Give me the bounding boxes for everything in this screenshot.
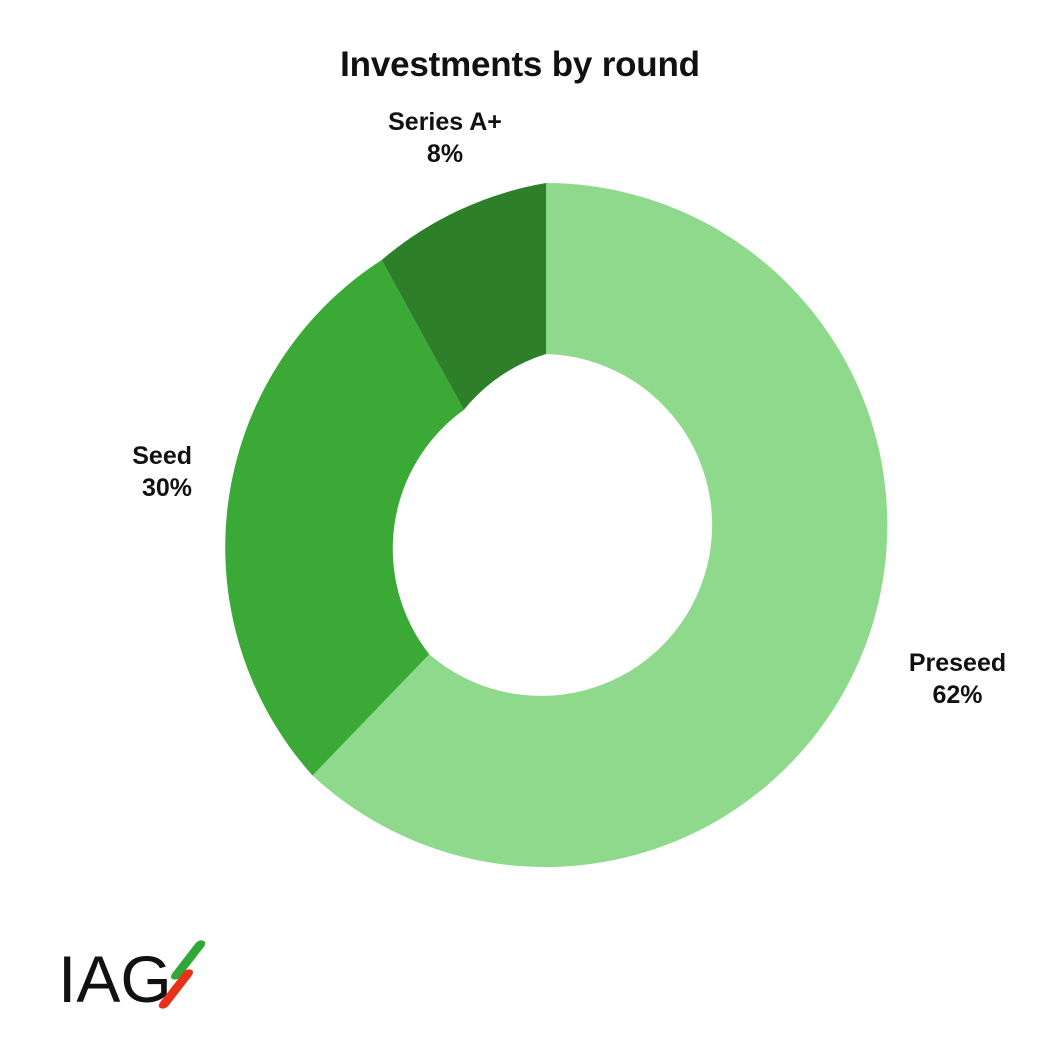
slice-label-preseed: Preseed 62% [875,647,1040,711]
slice-label-seed-value: 30% [0,472,192,504]
donut-chart [204,183,888,867]
chart-title: Investments by round [0,44,1040,86]
slice-label-series-a: Series A+ 8% [300,106,590,170]
iag-logo-wordmark: IAG [58,942,172,1016]
slice-label-series-a-value: 8% [300,138,590,170]
slice-label-seed: Seed 30% [0,440,192,504]
iag-logo-svg: IAG [58,930,208,1016]
donut-chart-svg [204,183,888,867]
slice-label-series-a-name: Series A+ [300,106,590,138]
slice-label-preseed-value: 62% [875,679,1040,711]
iag-logo: IAG [58,930,208,1016]
slice-label-seed-name: Seed [0,440,192,472]
slice-label-preseed-name: Preseed [875,647,1040,679]
chart-canvas: Investments by round Series A+ 8% Seed 3… [0,0,1040,1040]
